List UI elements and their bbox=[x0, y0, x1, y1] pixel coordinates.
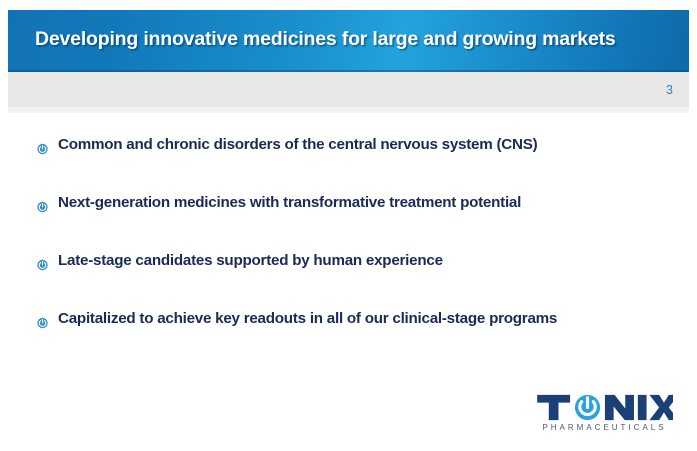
list-item-label: Late-stage candidates supported by human… bbox=[58, 252, 443, 269]
tonix-logo: PHARMACEUTICALS bbox=[533, 392, 673, 440]
list-item: Capitalized to achieve key readouts in a… bbox=[0, 306, 697, 364]
list-item-label: Capitalized to achieve key readouts in a… bbox=[58, 310, 557, 327]
page-number-band-shadow bbox=[8, 107, 689, 113]
list-item: Next-generation medicines with transform… bbox=[0, 190, 697, 248]
tonix-logo-tagline: PHARMACEUTICALS bbox=[536, 423, 673, 432]
bullet-list: Common and chronic disorders of the cent… bbox=[0, 132, 697, 364]
power-bullet-icon bbox=[36, 316, 49, 329]
list-item: Late-stage candidates supported by human… bbox=[0, 248, 697, 306]
page-title: Developing innovative medicines for larg… bbox=[35, 28, 655, 51]
page-number: 3 bbox=[666, 83, 673, 97]
power-bullet-icon bbox=[36, 200, 49, 213]
slide: Developing innovative medicines for larg… bbox=[0, 0, 697, 451]
power-bullet-icon bbox=[36, 142, 49, 155]
list-item-label: Common and chronic disorders of the cent… bbox=[58, 136, 537, 153]
list-item-label: Next-generation medicines with transform… bbox=[58, 194, 521, 211]
tonix-wordmark-icon bbox=[533, 392, 673, 422]
power-bullet-icon bbox=[36, 258, 49, 271]
page-number-band bbox=[8, 72, 689, 108]
list-item: Common and chronic disorders of the cent… bbox=[0, 132, 697, 190]
